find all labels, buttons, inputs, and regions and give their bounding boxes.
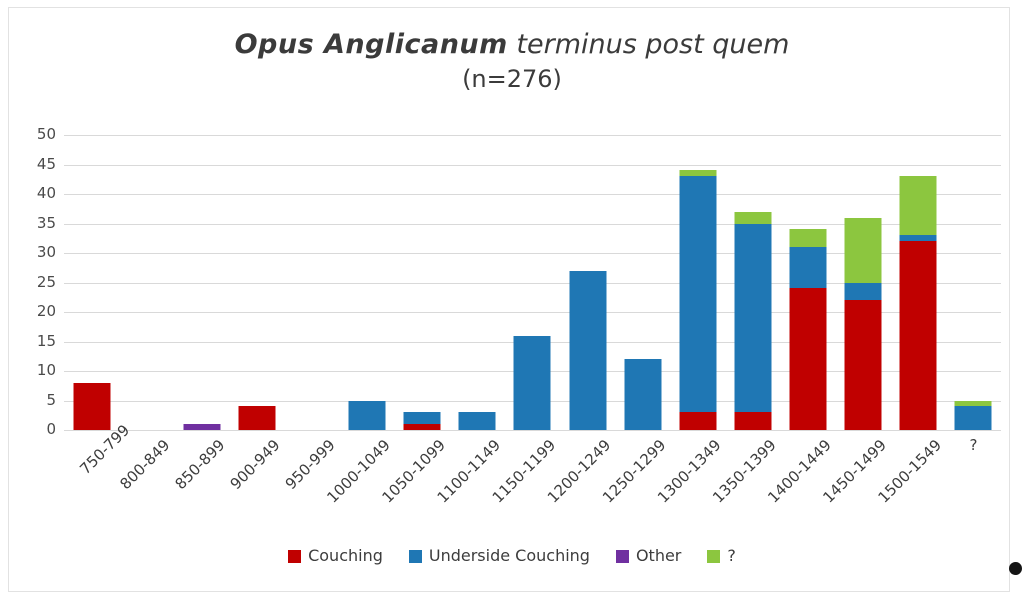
bar-segment[interactable] — [900, 176, 937, 235]
y-axis-tick-label: 45 — [12, 157, 56, 172]
y-axis-tick-label: 50 — [12, 127, 56, 142]
bar-slot[interactable] — [725, 135, 780, 430]
chart-title: Opus Anglicanum terminus post quem — [0, 28, 1024, 62]
legend-label: Underside Couching — [429, 548, 590, 564]
legend-swatch-icon — [409, 550, 422, 563]
bar-segment[interactable] — [845, 283, 882, 301]
y-axis-tick-label: 15 — [12, 334, 56, 349]
x-axis-tick-label: ? — [946, 436, 1001, 454]
bar-segment[interactable] — [349, 401, 386, 431]
corner-dot-icon — [1009, 562, 1022, 575]
y-axis-tick-label: 10 — [12, 363, 56, 378]
legend-swatch-icon — [707, 550, 720, 563]
bar-segment[interactable] — [734, 224, 771, 413]
x-axis-tick-label: 750-799 — [76, 436, 118, 478]
chart-subtitle: (n=276) — [0, 64, 1024, 94]
bar-segment[interactable] — [514, 336, 551, 430]
bar-slot[interactable] — [229, 135, 284, 430]
bars-layer — [64, 135, 1001, 430]
y-axis-tick-labels: 05101520253035404550 — [8, 135, 56, 430]
bar-segment[interactable] — [845, 218, 882, 283]
bar-slot[interactable] — [174, 135, 229, 430]
y-axis-tick-label: 30 — [12, 245, 56, 260]
bar-segment[interactable] — [955, 401, 992, 407]
bar-segment[interactable] — [569, 271, 606, 430]
bar-slot[interactable] — [284, 135, 339, 430]
bar-slot[interactable] — [450, 135, 505, 430]
bar-segment[interactable] — [790, 229, 827, 247]
legend-item-couching[interactable]: Couching — [288, 548, 383, 564]
bar-segment[interactable] — [900, 235, 937, 241]
bar-slot[interactable] — [119, 135, 174, 430]
legend-label: Other — [636, 548, 681, 564]
legend-label: ? — [727, 548, 736, 564]
chart-title-block: Opus Anglicanum terminus post quem (n=27… — [0, 28, 1024, 94]
legend-swatch-icon — [616, 550, 629, 563]
bar-slot[interactable] — [615, 135, 670, 430]
y-axis-tick-label: 20 — [12, 304, 56, 319]
legend-label: Couching — [308, 548, 383, 564]
bar-slot[interactable] — [891, 135, 946, 430]
y-axis-tick-label: 40 — [12, 186, 56, 201]
bar-segment[interactable] — [679, 176, 716, 412]
legend-item-other[interactable]: Other — [616, 548, 681, 564]
bar-segment[interactable] — [73, 383, 110, 430]
legend-item-underside_couching[interactable]: Underside Couching — [409, 548, 590, 564]
bar-segment[interactable] — [183, 424, 220, 430]
bar-segment[interactable] — [955, 406, 992, 430]
bar-segment[interactable] — [238, 406, 275, 430]
legend-swatch-icon — [288, 550, 301, 563]
bar-segment[interactable] — [404, 412, 441, 424]
bar-slot[interactable] — [946, 135, 1001, 430]
bar-slot[interactable] — [560, 135, 615, 430]
bar-segment[interactable] — [734, 412, 771, 430]
bar-segment[interactable] — [900, 241, 937, 430]
chart-figure: Opus Anglicanum terminus post quem (n=27… — [0, 0, 1024, 603]
bar-slot[interactable] — [836, 135, 891, 430]
bar-slot[interactable] — [505, 135, 560, 430]
bar-segment[interactable] — [845, 300, 882, 430]
bar-segment[interactable] — [790, 288, 827, 430]
legend-item-unknown[interactable]: ? — [707, 548, 736, 564]
chart-legend: CouchingUnderside CouchingOther? — [0, 548, 1024, 564]
x-axis-tick-labels: 750-799800-849850-899900-949950-9991000-… — [64, 432, 1001, 537]
y-axis-tick-label: 5 — [12, 393, 56, 408]
y-axis-tick-label: 0 — [12, 422, 56, 437]
chart-title-rest: terminus post quem — [516, 29, 789, 60]
bar-segment[interactable] — [624, 359, 661, 430]
y-axis-tick-label: 25 — [12, 275, 56, 290]
bar-segment[interactable] — [734, 212, 771, 224]
bar-slot[interactable] — [64, 135, 119, 430]
bar-slot[interactable] — [340, 135, 395, 430]
bar-slot[interactable] — [781, 135, 836, 430]
gridline — [64, 430, 1001, 431]
bar-segment[interactable] — [679, 412, 716, 430]
bar-segment[interactable] — [790, 247, 827, 288]
y-axis-tick-label: 35 — [12, 216, 56, 231]
bar-slot[interactable] — [670, 135, 725, 430]
bar-segment[interactable] — [459, 412, 496, 430]
chart-title-emphasis: Opus Anglicanum — [235, 29, 508, 60]
bar-slot[interactable] — [395, 135, 450, 430]
bar-segment[interactable] — [679, 170, 716, 176]
bar-segment[interactable] — [404, 424, 441, 430]
